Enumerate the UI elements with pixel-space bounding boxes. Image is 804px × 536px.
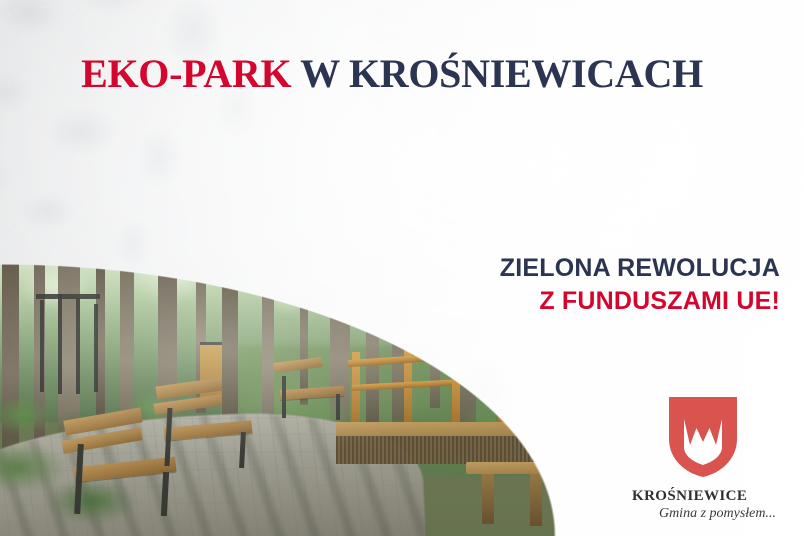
logo-tagline: Gmina z pomysłem... [632, 506, 780, 522]
page-title-highlight: EKO-PARK [81, 51, 291, 96]
logo-municipality-name: KROŚNIEWICE [632, 488, 780, 505]
park-photo [0, 264, 556, 536]
hero-photo-panel [0, 264, 556, 536]
photo-color-grade [0, 264, 556, 536]
page-title: EKO-PARK W KROŚNIEWICACH [0, 53, 784, 95]
shield-icon [632, 395, 774, 484]
municipal-logo: KROŚNIEWICE Gmina z pomysłem... [632, 395, 780, 522]
page-title-rest: W KROŚNIEWICACH [291, 51, 703, 96]
poster-root: EKO-PARK W KROŚNIEWICACH ZIELONA REWOLUC… [0, 0, 804, 536]
